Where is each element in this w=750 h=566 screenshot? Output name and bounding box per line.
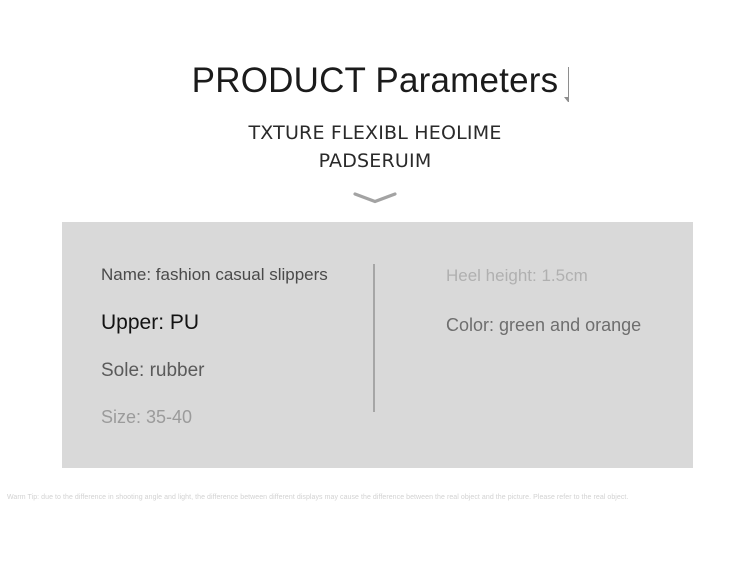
header-block: PRODUCT Parameters TXTURE FLEXIBL HEOLIM… — [0, 58, 750, 205]
spec-item-size: Size: 35-40 — [101, 408, 192, 426]
page-title-row: PRODUCT Parameters — [192, 58, 559, 104]
warm-tip-text: Warm Tip: due to the difference in shoot… — [7, 493, 747, 503]
spec-panel-inner: Name: fashion casual slippers Upper: PU … — [62, 222, 693, 468]
spec-item-upper: Upper: PU — [101, 312, 199, 333]
spec-item-name: Name: fashion casual slippers — [101, 266, 328, 283]
column-divider — [373, 264, 375, 412]
page-subtitle-line-2: PADSERUIM — [0, 147, 750, 175]
spec-item-sole: Sole: rubber — [101, 361, 205, 380]
chevron-down-icon — [0, 191, 750, 205]
page-title: PRODUCT Parameters — [192, 58, 559, 104]
product-parameters-page: PRODUCT Parameters TXTURE FLEXIBL HEOLIM… — [0, 0, 750, 566]
page-subtitle: TXTURE FLEXIBL HEOLIME PADSERUIM — [0, 119, 750, 175]
spec-item-color: Color: green and orange — [446, 316, 641, 334]
spec-panel: Name: fashion casual slippers Upper: PU … — [62, 222, 693, 468]
text-cursor-icon — [568, 67, 569, 102]
page-subtitle-line-1: TXTURE FLEXIBL HEOLIME — [0, 119, 750, 147]
spec-item-heel-height: Heel height: 1.5cm — [446, 267, 588, 284]
